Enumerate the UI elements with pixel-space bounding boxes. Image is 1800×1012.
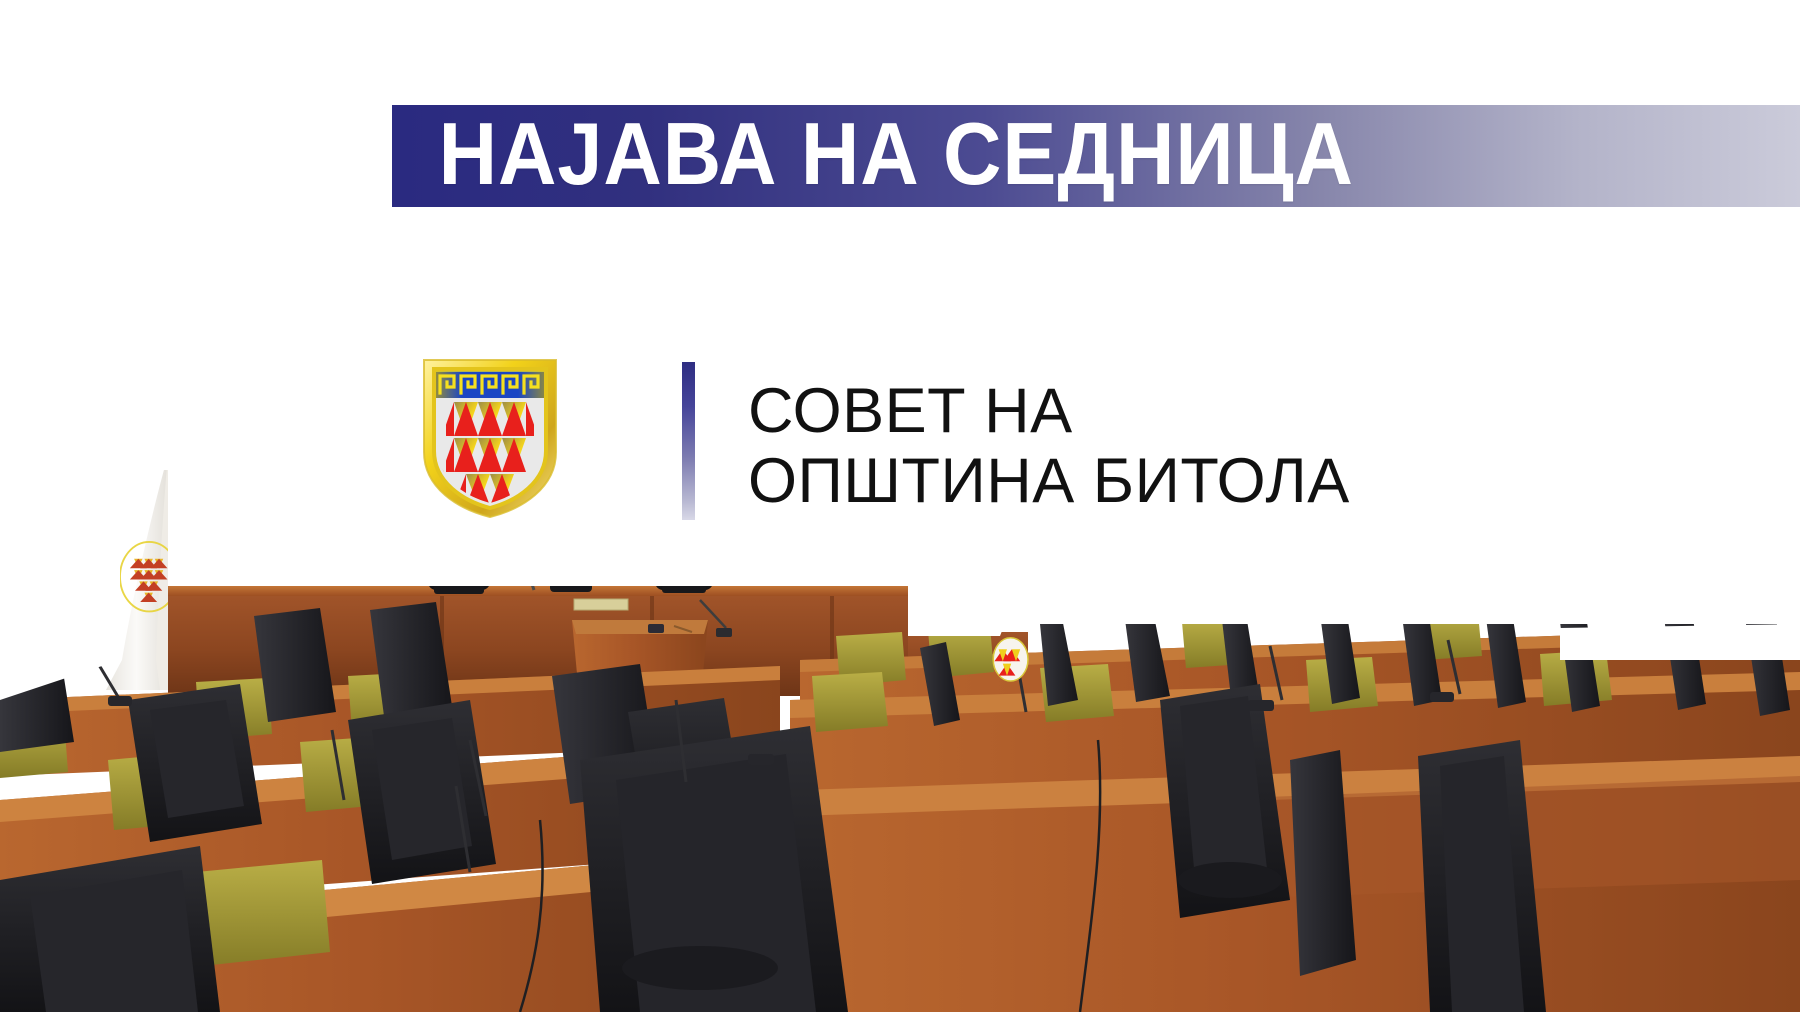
vertical-divider	[682, 362, 695, 520]
slide-canvas: НАЈАВА НА СЕДНИЦА	[0, 0, 1800, 1012]
banner-title: НАЈАВА НА СЕДНИЦА	[388, 96, 1687, 212]
presiding-chairs	[428, 536, 713, 594]
desk-rows-left	[0, 666, 806, 1012]
org-line-1: СОВЕТ НА	[748, 376, 1508, 446]
chairs-left	[0, 602, 848, 1012]
microphones	[96, 640, 1460, 872]
flag-poles	[171, 432, 290, 478]
organisation-name: СОВЕТ НА ОПШТИНА БИТОЛА	[748, 376, 1508, 516]
desk-rows-right	[790, 613, 1800, 1012]
org-line-2: ОПШТИНА БИТОЛА	[748, 446, 1508, 516]
bitola-coat-of-arms-emblem	[416, 356, 564, 518]
chairs-right	[920, 606, 1790, 1012]
